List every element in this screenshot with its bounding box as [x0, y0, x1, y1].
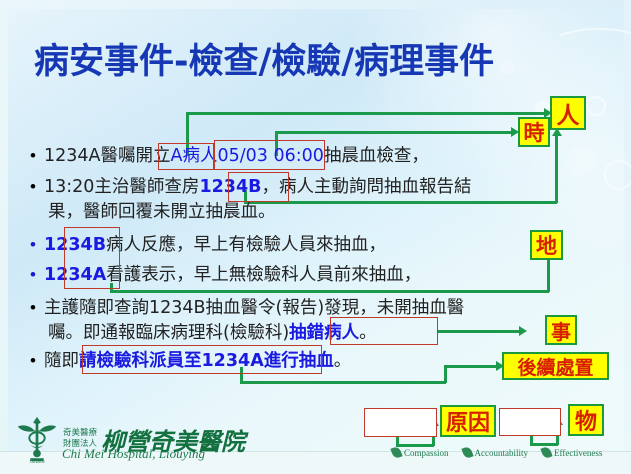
connector-matter-arrow: [519, 326, 527, 336]
hospital-values: Compassion Accountability Effectiveness: [392, 447, 602, 458]
category-box-matter[interactable]: 事: [545, 315, 577, 345]
highlight-box-1234ba: [64, 227, 120, 289]
bullet-marker: •: [30, 262, 44, 288]
highlight-box-wrong-patient: [330, 317, 438, 345]
hospital-logo-en-name: Chi Mei Hospital, Liouying: [62, 446, 205, 462]
slide-frame-left: [0, 0, 8, 474]
value-effectiveness: Effectiveness: [542, 447, 602, 458]
bullet-segment: 。: [334, 351, 352, 371]
leaf-icon: [461, 446, 473, 459]
connector-person2-horizontal: [244, 201, 557, 204]
highlight-box-draw-blood-request: [82, 345, 322, 374]
highlight-box-a-patient: [158, 143, 214, 170]
value-label: Effectiveness: [554, 448, 602, 458]
connector-followup-horizontal-b: [444, 365, 497, 368]
bullet-segment: 抽晨血檢查，: [324, 146, 429, 166]
value-compassion: Compassion: [392, 447, 449, 458]
slide-canvas: 病安事件-檢查/檢驗/病理事件 • 1234A醫囑開立A病人05/03 06:0…: [0, 0, 631, 474]
page-title: 病安事件-檢查/檢驗/病理事件: [34, 33, 494, 84]
value-label: Accountability: [475, 448, 529, 458]
bullet-continuation: 果，醫師回覆未開立抽晨血。: [48, 199, 276, 226]
connector-followup-horizontal: [240, 381, 446, 384]
connector-place-vertical-b: [547, 258, 550, 292]
bullet-segment: 囑。即通報臨床病理科(檢驗科): [48, 323, 289, 343]
highlight-box-datetime: [214, 140, 325, 170]
category-box-place[interactable]: 地: [530, 230, 563, 260]
category-box-person[interactable]: 人: [550, 96, 586, 130]
value-label: Compassion: [404, 448, 449, 458]
connector-person2-vertical-b: [555, 135, 558, 203]
bullet-marker: •: [30, 143, 44, 169]
value-accountability: Accountability: [463, 447, 529, 458]
bullet-continuation: 囑。即通報臨床病理科(檢驗科)抽錯病人。: [48, 320, 377, 347]
connector-person-horizontal: [186, 112, 544, 115]
connector-thing-horizontal: [530, 443, 558, 446]
connector-place-horizontal: [110, 290, 549, 293]
empty-box-thing-input[interactable]: [499, 408, 561, 436]
bullet-marker: •: [30, 348, 44, 374]
bullet-marker: •: [30, 232, 44, 258]
connector-time-horizontal: [275, 131, 511, 134]
bullet-marker: •: [30, 295, 44, 321]
connector-followup-vertical-b: [444, 365, 447, 383]
bullet-segment: 隨即: [44, 351, 79, 371]
bullet-segment: ，病人主動詢問抽血報告結: [261, 177, 471, 197]
bullet-segment: 看護表示，早上無檢驗科人員前來抽血，: [106, 265, 421, 285]
leaf-icon: [390, 446, 402, 459]
svg-text:TAIWAN: TAIWAN: [29, 459, 44, 464]
leaf-icon: [540, 446, 552, 459]
bullet-segment: 1234A醫囑開立: [44, 146, 171, 166]
category-box-cause[interactable]: 原因: [440, 405, 496, 437]
bullet-segment: 13:20主治醫師查房: [44, 177, 199, 197]
empty-box-cause-input[interactable]: [364, 408, 437, 437]
category-box-time[interactable]: 時: [518, 117, 550, 147]
category-box-followup[interactable]: 後續處置: [502, 352, 609, 380]
bullet-segment: 病人反應，早上有檢驗人員來抽血，: [106, 235, 386, 255]
bullet-segment: 主護隨即查詢1234B抽血醫令(報告)發現，未開抽血醫: [44, 298, 464, 318]
bullet-marker: •: [30, 174, 44, 200]
caduceus-logo-icon: TAIWAN: [14, 414, 60, 464]
highlight-box-1234b: [228, 172, 289, 202]
category-box-thing[interactable]: 物: [568, 404, 604, 436]
hospital-logo-cn-line1: 奇美醫療: [63, 428, 97, 439]
connector-matter-horizontal: [437, 330, 520, 333]
slide-frame-top: [0, 0, 631, 9]
